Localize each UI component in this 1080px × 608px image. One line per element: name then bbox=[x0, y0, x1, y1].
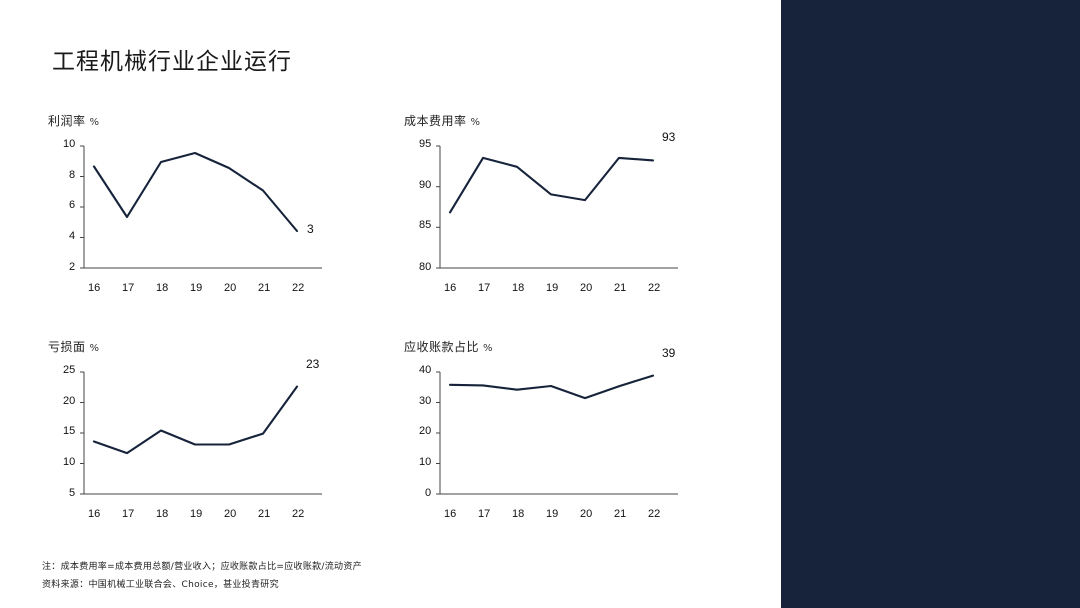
end-value-profit-rate: 3 bbox=[307, 222, 314, 236]
footnote-definition: 注：成本费用率=成本费用总额/营业收入；应收账款占比=应收账款/流动资产 bbox=[42, 559, 362, 572]
chart-title-receivables-share: 应收账款占比% bbox=[404, 338, 493, 355]
slide-page: 工程机械行业企业运行 利润率% 10 8 6 4 2 bbox=[0, 0, 1080, 608]
end-value-cost-expense-rate: 93 bbox=[662, 130, 675, 144]
end-value-receivables-share: 39 bbox=[662, 346, 675, 360]
end-value-loss-ratio: 23 bbox=[306, 357, 319, 371]
chart-svg-receivables-share bbox=[400, 362, 700, 527]
chart-title-cost-expense-rate: 成本费用率% bbox=[404, 112, 481, 129]
page-title: 工程机械行业企业运行 bbox=[52, 42, 292, 76]
chart-profit-rate: 利润率% 10 8 6 4 2 16 17 18 19 2 bbox=[44, 112, 344, 302]
chart-loss-ratio: 亏损面% 25 20 15 10 5 16 17 18 19 20 21 bbox=[44, 338, 344, 528]
chart-title-loss-ratio: 亏损面% bbox=[48, 338, 100, 355]
summary-panel: 2022年 工程 VS 机械工业 利润率 3% 6% 成本费用率 93% 88%… bbox=[781, 0, 1080, 608]
chart-receivables-share: 应收账款占比% 40 30 20 10 0 16 17 18 19 20 21 bbox=[400, 338, 700, 528]
chart-title-profit-rate: 利润率% bbox=[48, 112, 100, 129]
chart-svg-profit-rate bbox=[44, 136, 344, 301]
chart-svg-cost-expense-rate bbox=[400, 136, 700, 301]
chart-svg-loss-ratio bbox=[44, 362, 344, 527]
footnote-source: 资料来源：中国机械工业联合会、Choice，甚业投青研究 bbox=[42, 577, 279, 590]
chart-cost-expense-rate: 成本费用率% 95 90 85 80 16 17 18 19 20 21 22 … bbox=[400, 112, 700, 302]
content-area: 工程机械行业企业运行 利润率% 10 8 6 4 2 bbox=[0, 0, 781, 608]
